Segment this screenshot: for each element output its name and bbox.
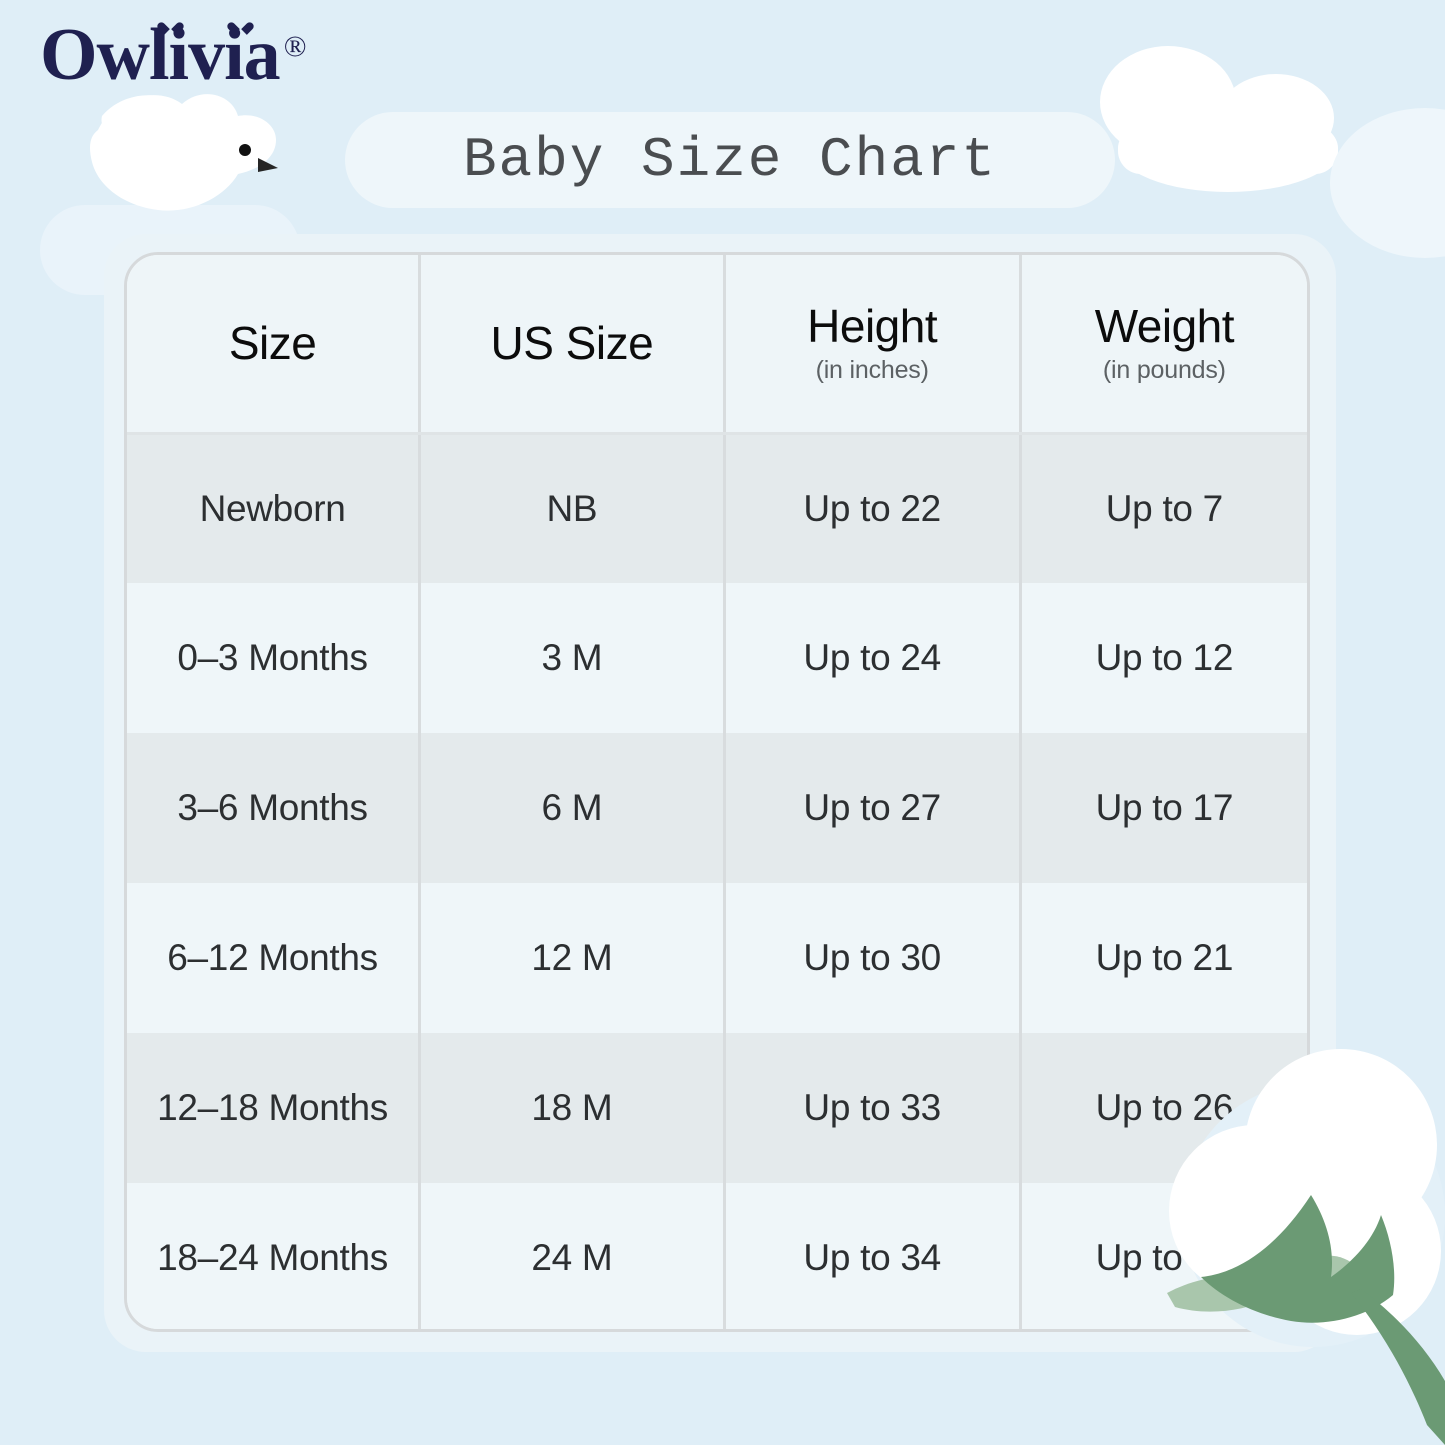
table-row: 12–18 Months 18 M Up to 33 Up to 26 [127, 1033, 1307, 1183]
table-header-row: Size US Size Height (in inches) Weight (… [127, 255, 1307, 433]
cell-size: 18–24 Months [127, 1183, 420, 1332]
page-title: Baby Size Chart [463, 128, 997, 192]
column-header-label: Height [726, 302, 1019, 350]
column-header-sublabel: (in pounds) [1022, 356, 1307, 385]
table-body: Newborn NB Up to 22 Up to 7 0–3 Months 3… [127, 433, 1307, 1332]
cell-weight: Up to 17 [1020, 733, 1307, 883]
table-row: 18–24 Months 24 M Up to 34 Up to 30 [127, 1183, 1307, 1332]
heart-icon [163, 20, 178, 34]
size-chart-canvas: Owlivia ® Baby Size Chart Size US Size [0, 0, 1445, 1445]
cell-us-size: 3 M [420, 583, 724, 733]
cell-size: 3–6 Months [127, 733, 420, 883]
cell-weight: Up to 30 [1020, 1183, 1307, 1332]
cell-us-size: 6 M [420, 733, 724, 883]
column-header-label: Size [127, 319, 418, 367]
cell-us-size: 18 M [420, 1033, 724, 1183]
cell-height: Up to 30 [724, 883, 1020, 1033]
cell-size: 12–18 Months [127, 1033, 420, 1183]
cell-size: Newborn [127, 433, 420, 583]
page-title-pill: Baby Size Chart [345, 112, 1115, 208]
column-header-height: Height (in inches) [724, 255, 1020, 433]
table-header: Size US Size Height (in inches) Weight (… [127, 255, 1307, 433]
cell-weight: Up to 12 [1020, 583, 1307, 733]
cell-us-size: NB [420, 433, 724, 583]
cell-height: Up to 33 [724, 1033, 1020, 1183]
cell-us-size: 24 M [420, 1183, 724, 1332]
table-row: Newborn NB Up to 22 Up to 7 [127, 433, 1307, 583]
column-header-label: Weight [1022, 302, 1307, 350]
cell-height: Up to 34 [724, 1183, 1020, 1332]
cell-weight: Up to 21 [1020, 883, 1307, 1033]
cell-height: Up to 27 [724, 733, 1020, 883]
column-header-sublabel: (in inches) [726, 356, 1019, 385]
column-header-size: Size [127, 255, 420, 433]
cell-us-size: 12 M [420, 883, 724, 1033]
size-chart-table-container: Size US Size Height (in inches) Weight (… [124, 252, 1310, 1332]
column-header-label: US Size [421, 319, 722, 367]
column-header-us-size: US Size [420, 255, 724, 433]
cell-height: Up to 24 [724, 583, 1020, 733]
heart-icon [233, 20, 248, 34]
registered-trademark-icon: ® [284, 32, 307, 62]
brand-logo: Owlivia ® [40, 18, 306, 92]
cell-size: 0–3 Months [127, 583, 420, 733]
column-header-weight: Weight (in pounds) [1020, 255, 1307, 433]
cell-weight: Up to 26 [1020, 1033, 1307, 1183]
cell-size: 6–12 Months [127, 883, 420, 1033]
cell-height: Up to 22 [724, 433, 1020, 583]
size-chart-table: Size US Size Height (in inches) Weight (… [127, 255, 1307, 1332]
table-row: 3–6 Months 6 M Up to 27 Up to 17 [127, 733, 1307, 883]
cell-weight: Up to 7 [1020, 433, 1307, 583]
table-row: 0–3 Months 3 M Up to 24 Up to 12 [127, 583, 1307, 733]
cloud-edge-illustration [1330, 108, 1445, 258]
table-row: 6–12 Months 12 M Up to 30 Up to 21 [127, 883, 1307, 1033]
